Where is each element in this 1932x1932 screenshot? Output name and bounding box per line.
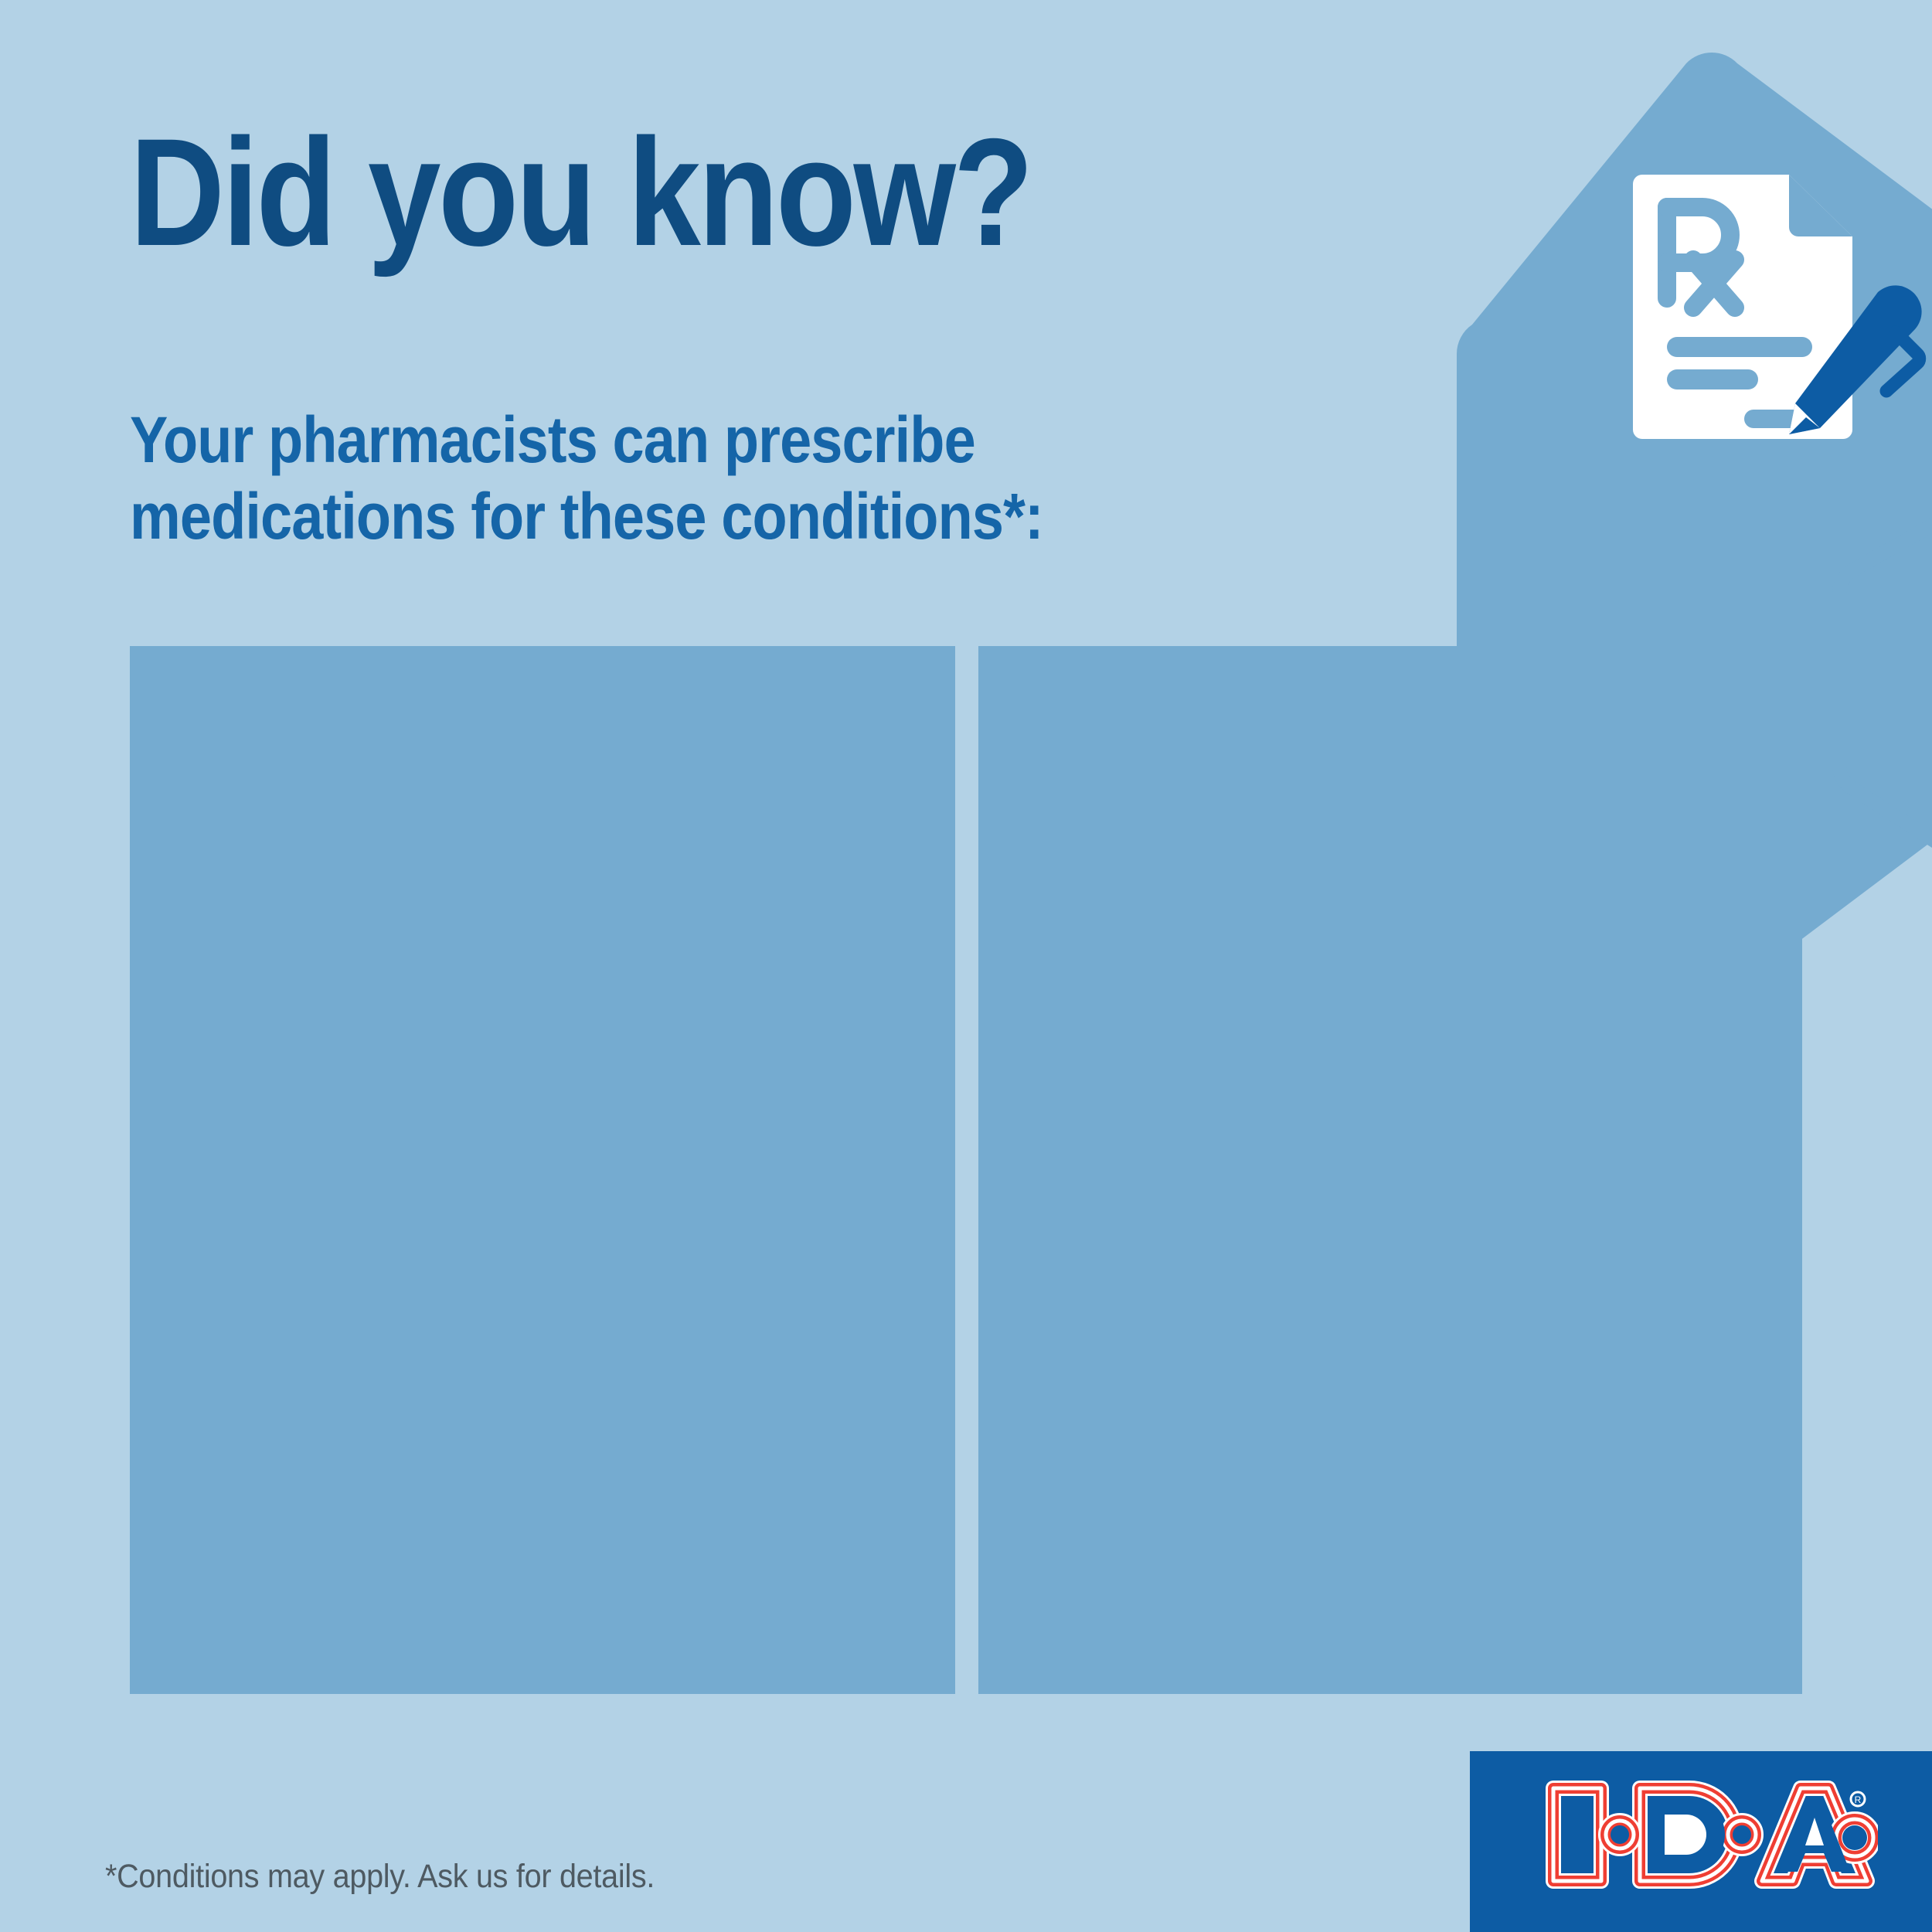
logo-block: R: [1470, 1751, 1932, 1932]
conditions-panel-left: [130, 646, 955, 1694]
subtitle-line-2: medications for these conditions*:: [130, 478, 1286, 555]
paper-line-1-icon: [1667, 337, 1812, 357]
footnote-disclaimer: *Conditions may apply. Ask us for detail…: [105, 1858, 655, 1896]
prescription-icon-group: [1457, 53, 1932, 547]
paper-fold-corner-icon: [1789, 175, 1852, 236]
page-subtitle: Your pharmacists can prescribe medicatio…: [130, 402, 1286, 555]
paper-line-2-icon: [1667, 369, 1758, 389]
subtitle-line-1: Your pharmacists can prescribe: [130, 402, 1286, 478]
ida-pharmacy-logo: R: [1546, 1781, 1878, 1896]
registered-trademark-icon: R: [1851, 1792, 1865, 1806]
poster-canvas: Did you know? Your pharmacists can presc…: [0, 0, 1932, 1932]
svg-text:R: R: [1855, 1794, 1862, 1805]
page-title: Did you know?: [130, 116, 1127, 269]
conditions-panel-right: [978, 646, 1802, 1694]
